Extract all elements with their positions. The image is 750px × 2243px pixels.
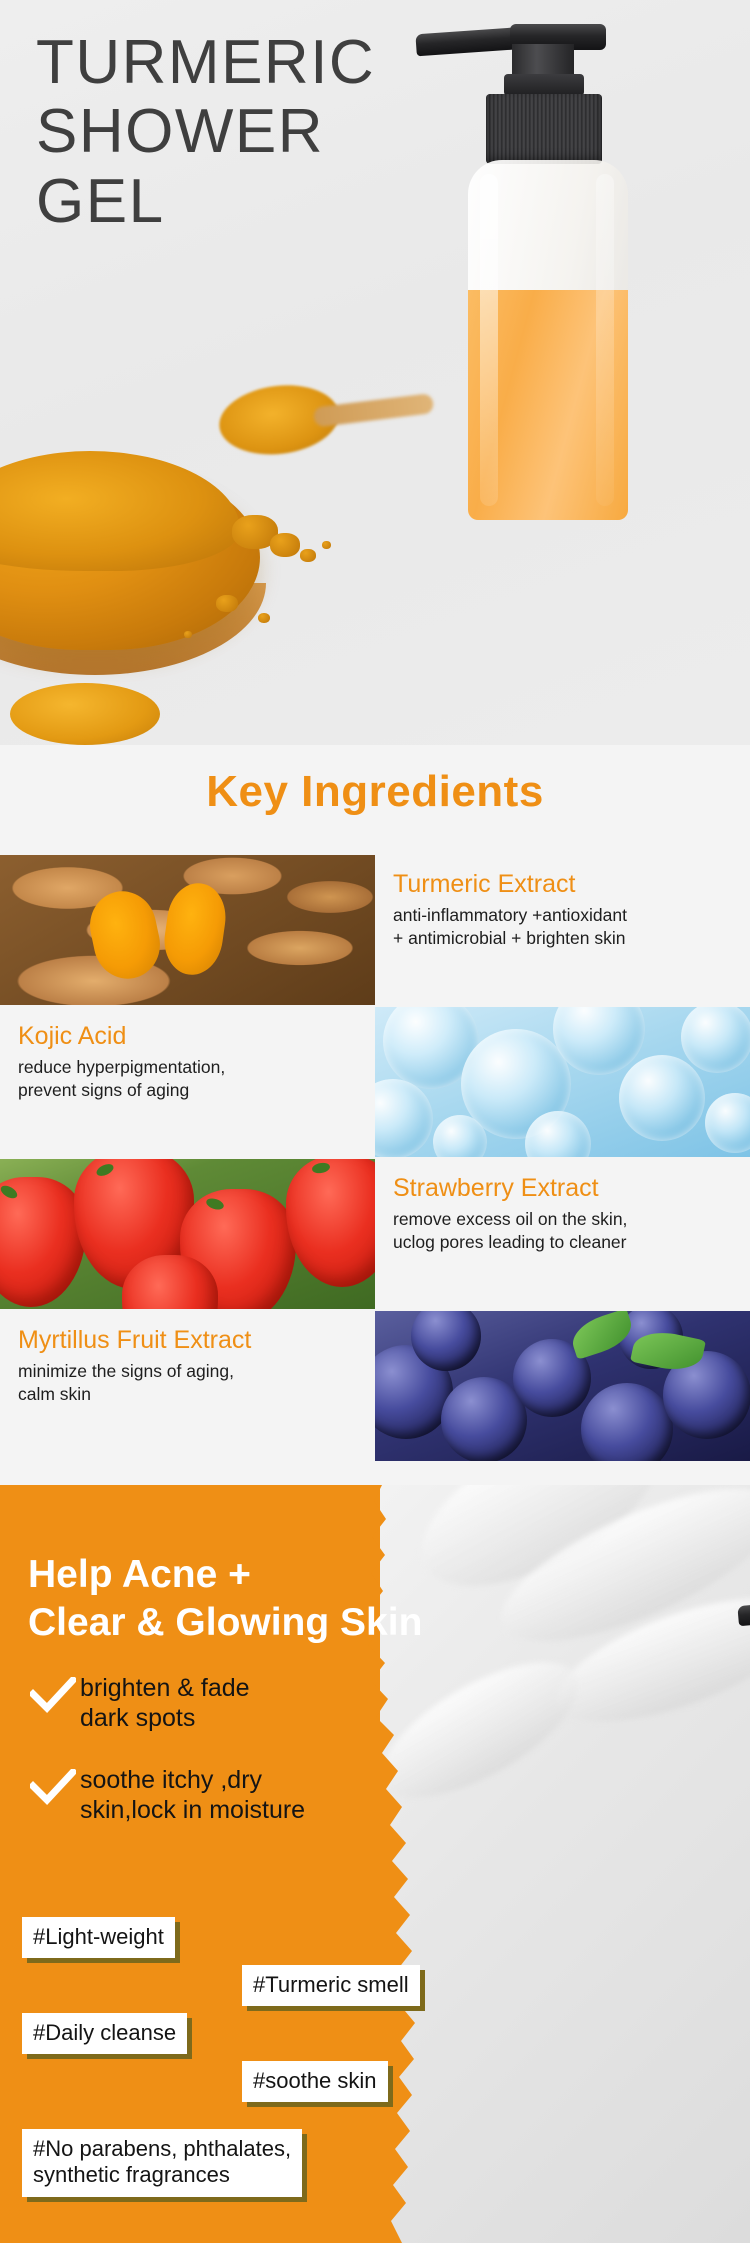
benefit-item: brighten & fade dark spots	[30, 1673, 480, 1733]
ingredient-text-myrtillus: Myrtillus Fruit Extract minimize the sig…	[0, 1311, 375, 1461]
ingredient-image-strawberry	[0, 1159, 375, 1309]
hero-product-bottle	[428, 22, 668, 522]
key-ingredients-section: Key Ingredients Turmeric Extract anti-in…	[0, 745, 750, 1485]
section-heading-key-ingredients: Key Ingredients	[0, 745, 750, 817]
hero-title-line-3: GEL	[36, 167, 456, 236]
benefit-text: soothe itchy ,dry skin,lock in moisture	[80, 1765, 305, 1825]
check-icon	[30, 1673, 80, 1715]
ingredient-name: Strawberry Extract	[393, 1175, 736, 1203]
ingredient-name: Turmeric Extract	[393, 871, 736, 899]
ingredient-row: Myrtillus Fruit Extract minimize the sig…	[0, 1311, 750, 1461]
hero-title-line-1: TURMERIC	[36, 28, 456, 97]
page-title: TURMERIC SHOWER GEL	[36, 28, 456, 236]
ingredient-image-kojic-acid	[375, 1007, 750, 1157]
benefit-item: soothe itchy ,dry skin,lock in moisture	[30, 1765, 480, 1825]
hero-title-line-2: SHOWER	[36, 97, 456, 166]
turmeric-powder-photo	[0, 455, 410, 745]
ingredient-name: Kojic Acid	[18, 1023, 361, 1051]
ingredient-image-turmeric	[0, 855, 375, 1005]
hashtag-tag[interactable]: #Turmeric smell	[242, 1965, 420, 2006]
ingredient-description: minimize the signs of aging, calm skin	[18, 1360, 361, 1406]
benefit-text: brighten & fade dark spots	[80, 1673, 250, 1733]
ingredient-text-turmeric: Turmeric Extract anti-inflammatory +anti…	[375, 855, 750, 1005]
hashtag-tag[interactable]: #No parabens, phthalates, synthetic frag…	[22, 2129, 302, 2197]
ingredient-row: Kojic Acid reduce hyperpigmentation, pre…	[0, 1007, 750, 1157]
hashtag-tag[interactable]: #Daily cleanse	[22, 2013, 187, 2054]
ingredient-image-myrtillus	[375, 1311, 750, 1461]
benefits-heading: Help Acne + Clear & Glowing Skin	[28, 1551, 498, 1646]
ingredient-row: Strawberry Extract remove excess oil on …	[0, 1159, 750, 1309]
hero-section: TURMERIC SHOWER GEL	[0, 0, 750, 745]
hashtag-tag[interactable]: #Light-weight	[22, 1917, 175, 1958]
ingredient-description: reduce hyperpigmentation, prevent signs …	[18, 1056, 361, 1102]
ingredient-text-kojic-acid: Kojic Acid reduce hyperpigmentation, pre…	[0, 1007, 375, 1157]
hashtag-tag[interactable]: #soothe skin	[242, 2061, 388, 2102]
benefits-list: brighten & fade dark spots soothe itchy …	[30, 1673, 480, 1857]
benefits-heading-line-2: Clear & Glowing Skin	[28, 1599, 498, 1647]
ingredient-name: Myrtillus Fruit Extract	[18, 1327, 361, 1355]
ingredient-row: Turmeric Extract anti-inflammatory +anti…	[0, 855, 750, 1005]
ingredient-description: remove excess oil on the skin, uclog por…	[393, 1208, 736, 1254]
check-icon	[30, 1765, 80, 1807]
benefits-section: Help Acne + Clear & Glowing Skin brighte…	[0, 1485, 750, 2243]
ingredient-description: anti-inflammatory +antioxidant + antimic…	[393, 904, 736, 950]
benefits-heading-line-1: Help Acne +	[28, 1551, 498, 1599]
ingredient-text-strawberry: Strawberry Extract remove excess oil on …	[375, 1159, 750, 1309]
